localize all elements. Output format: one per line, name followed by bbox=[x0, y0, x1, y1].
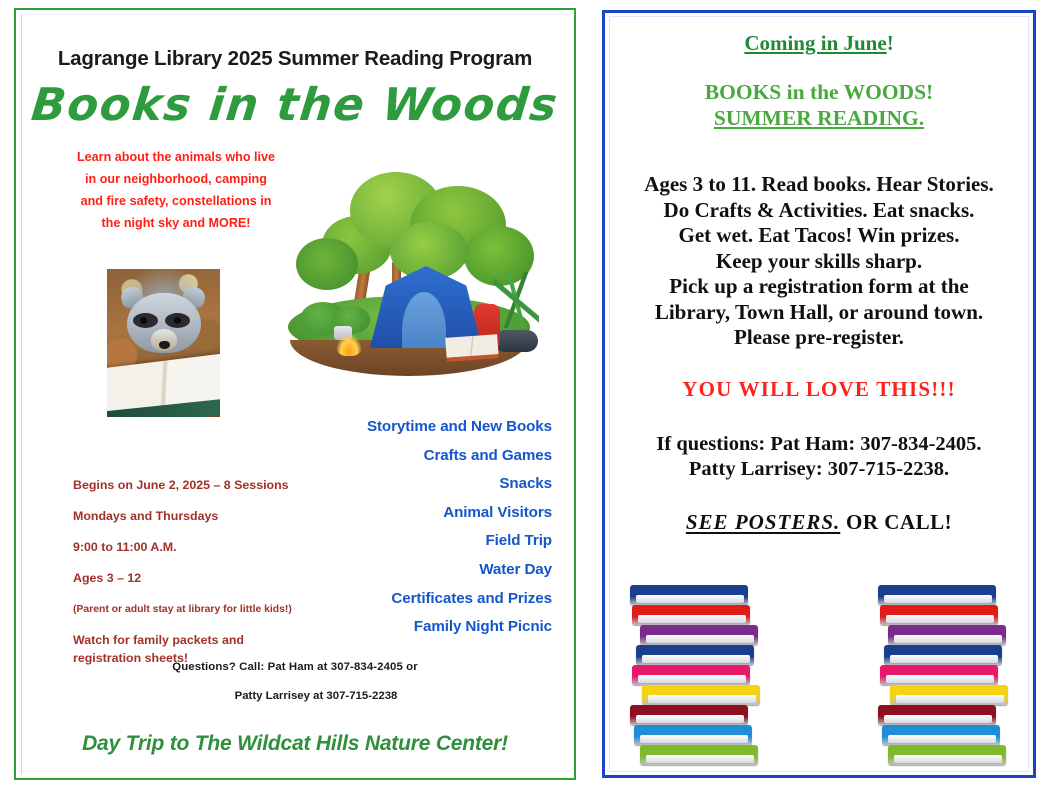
book-pages bbox=[638, 615, 746, 623]
right-questions-line-2: Patty Larrisey: 307-715-2238. bbox=[605, 457, 1033, 482]
book-stack bbox=[630, 565, 760, 765]
book-pages bbox=[884, 595, 992, 603]
flyer-page: Lagrange Library 2025 Summer Reading Pro… bbox=[0, 0, 1047, 799]
day-trip-banner: Day Trip to The Wildcat Hills Nature Cen… bbox=[16, 732, 574, 756]
book-in-stack bbox=[888, 625, 1006, 645]
book-pages bbox=[890, 655, 998, 663]
raccoon-nose-icon bbox=[159, 341, 170, 349]
right-questions-line-1: If questions: Pat Ham: 307-834-2405. bbox=[605, 432, 1033, 457]
body-line: Keep your skills sharp. bbox=[605, 249, 1033, 275]
book-in-stack bbox=[640, 745, 758, 765]
raccoon-eye-right-icon bbox=[174, 317, 181, 324]
right-flyer-panel: Coming in June! BOOKS in the WOODS! SUMM… bbox=[602, 10, 1036, 778]
activity-item: Storytime and New Books bbox=[222, 413, 552, 442]
raccoon-eye-left-icon bbox=[140, 317, 147, 324]
log-icon bbox=[494, 330, 538, 352]
book-pages bbox=[636, 715, 744, 723]
body-line: Please pre-register. bbox=[605, 325, 1033, 351]
book-in-stack bbox=[636, 645, 754, 665]
books-heading-line-1: BOOKS in the WOODS! bbox=[605, 79, 1033, 105]
right-coming-heading: Coming in June! bbox=[605, 31, 1033, 56]
body-line: Ages 3 to 11. Read books. Hear Stories. bbox=[605, 172, 1033, 198]
left-questions-block: Questions? Call: Pat Ham at 307-834-2405… bbox=[16, 661, 574, 702]
left-questions-line-2: Patty Larrisey at 307-715-2238 bbox=[16, 690, 574, 702]
tree-foliage-icon bbox=[296, 238, 358, 290]
book-in-stack bbox=[640, 625, 758, 645]
book-pages bbox=[894, 755, 1002, 763]
left-questions-line-1: Questions? Call: Pat Ham at 307-834-2405… bbox=[16, 661, 574, 673]
book-pages bbox=[884, 715, 992, 723]
book-pages bbox=[640, 735, 748, 743]
body-line: Get wet. Eat Tacos! Win prizes. bbox=[605, 223, 1033, 249]
book-in-stack bbox=[880, 665, 998, 685]
books-heading-line-2: SUMMER READING. bbox=[605, 105, 1033, 131]
book-pages bbox=[646, 635, 754, 643]
book-stack bbox=[878, 565, 1008, 765]
book-in-stack bbox=[884, 645, 1002, 665]
book-in-stack bbox=[882, 725, 1000, 745]
body-line: Pick up a registration form at the bbox=[605, 274, 1033, 300]
open-book-on-ground-icon bbox=[445, 334, 499, 362]
right-love-line: YOU WILL LOVE THIS!!! bbox=[605, 377, 1033, 402]
detail-parent-note: (Parent or adult stay at library for lit… bbox=[73, 602, 345, 617]
campfire-icon bbox=[336, 334, 362, 356]
raccoon-reading-photo bbox=[107, 269, 220, 417]
blurb-line: the night sky and MORE! bbox=[58, 212, 294, 234]
coming-exclamation: ! bbox=[887, 31, 894, 55]
detail-start-date: Begins on June 2, 2025 – 8 Sessions bbox=[73, 478, 345, 493]
detail-time: 9:00 to 11:00 A.M. bbox=[73, 540, 345, 555]
detail-ages: Ages 3 – 12 bbox=[73, 571, 345, 586]
book-in-stack bbox=[890, 685, 1008, 705]
book-pages bbox=[896, 695, 1004, 703]
book-in-stack bbox=[878, 705, 996, 725]
program-details: Begins on June 2, 2025 – 8 Sessions Mond… bbox=[73, 478, 345, 667]
book-pages bbox=[894, 635, 1002, 643]
book-in-stack bbox=[878, 585, 996, 605]
activity-item: Crafts and Games bbox=[222, 442, 552, 471]
book-pages bbox=[646, 755, 754, 763]
left-flyer-script-title: Books in the Woods bbox=[13, 78, 577, 131]
book-in-stack bbox=[634, 725, 752, 745]
book-pages bbox=[886, 675, 994, 683]
right-body-text: Ages 3 to 11. Read books. Hear Stories. … bbox=[605, 172, 1033, 351]
blurb-line: and fire safety, constellations in bbox=[58, 190, 294, 212]
detail-packets-line1: Watch for family packets and bbox=[73, 631, 345, 649]
blurb-line: in our neighborhood, camping bbox=[58, 168, 294, 190]
camping-scene-illustration bbox=[278, 150, 543, 380]
book-pages bbox=[642, 655, 750, 663]
left-flyer-panel: Lagrange Library 2025 Summer Reading Pro… bbox=[14, 8, 576, 780]
book-pages bbox=[886, 615, 994, 623]
body-line: Library, Town Hall, or around town. bbox=[605, 300, 1033, 326]
book-stacks-illustration bbox=[605, 565, 1033, 765]
left-flyer-red-blurb: Learn about the animals who live in our … bbox=[58, 146, 294, 234]
book-pages bbox=[636, 595, 744, 603]
book-pages bbox=[648, 695, 756, 703]
or-call-text: OR CALL! bbox=[840, 510, 952, 534]
book-in-stack bbox=[630, 705, 748, 725]
book-in-stack bbox=[632, 605, 750, 625]
right-books-heading: BOOKS in the WOODS! SUMMER READING. bbox=[605, 79, 1033, 131]
blurb-line: Learn about the animals who live bbox=[58, 146, 294, 168]
detail-days: Mondays and Thursdays bbox=[73, 509, 345, 524]
book-pages bbox=[888, 735, 996, 743]
coming-underlined-text: Coming in June bbox=[744, 31, 886, 55]
right-questions-block: If questions: Pat Ham: 307-834-2405. Pat… bbox=[605, 432, 1033, 482]
book-in-stack bbox=[632, 665, 750, 685]
body-line: Do Crafts & Activities. Eat snacks. bbox=[605, 198, 1033, 224]
book-in-stack bbox=[642, 685, 760, 705]
book-in-stack bbox=[880, 605, 998, 625]
book-in-stack bbox=[630, 585, 748, 605]
see-posters-text: SEE POSTERS. bbox=[686, 510, 840, 534]
book-pages bbox=[638, 675, 746, 683]
right-posters-line: SEE POSTERS. OR CALL! bbox=[605, 510, 1033, 535]
open-book-icon bbox=[107, 353, 220, 417]
left-flyer-header: Lagrange Library 2025 Summer Reading Pro… bbox=[16, 47, 574, 71]
book-in-stack bbox=[888, 745, 1006, 765]
